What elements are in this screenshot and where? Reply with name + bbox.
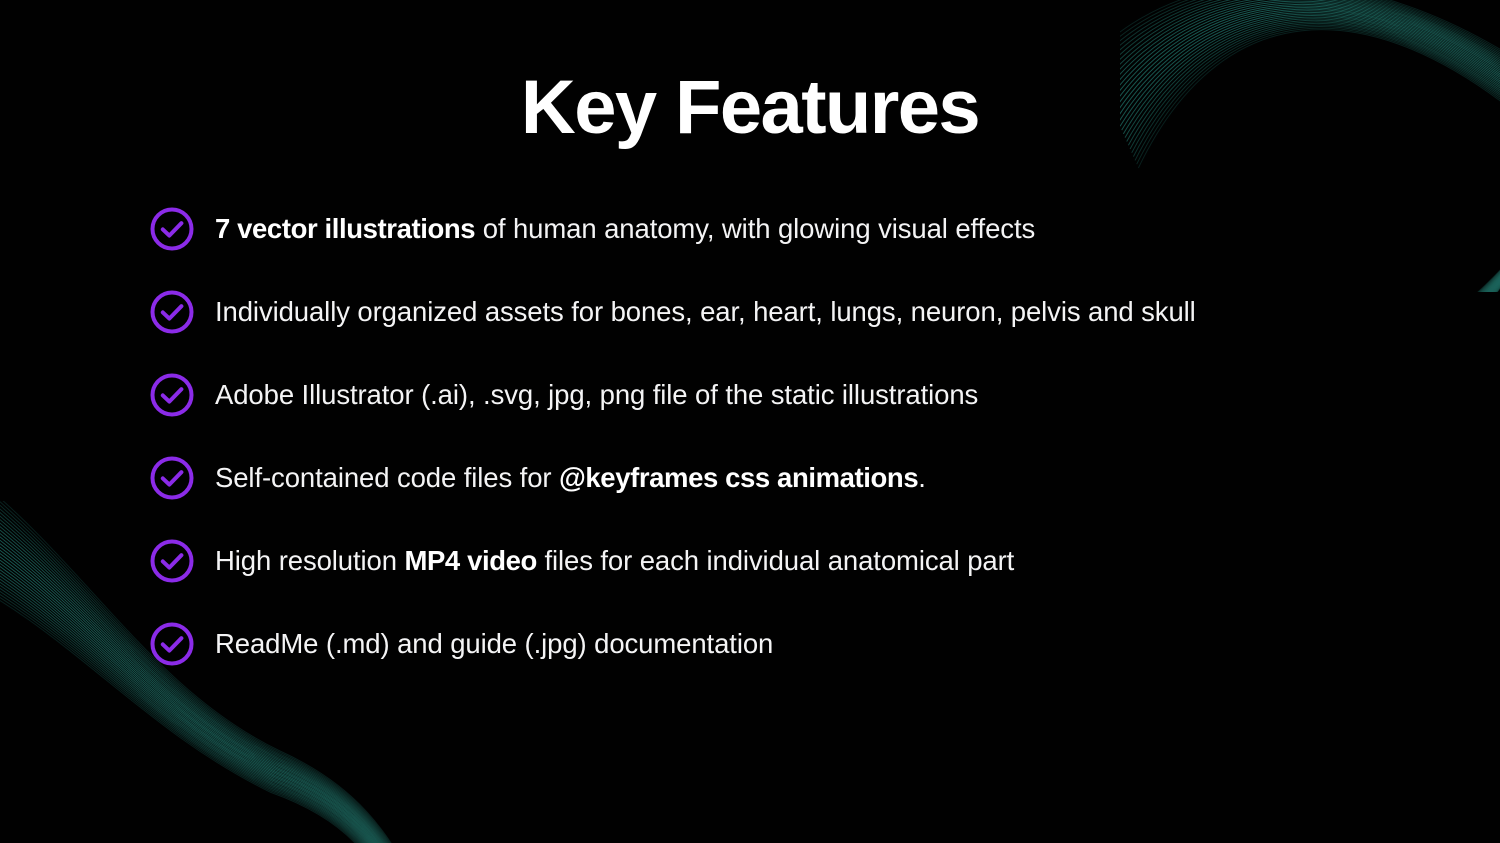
- list-item-text: Adobe Illustrator (.ai), .svg, jpg, png …: [215, 372, 978, 418]
- list-item: ReadMe (.md) and guide (.jpg) documentat…: [149, 621, 1440, 704]
- feature-list: 7 vector illustrations of human anatomy,…: [149, 206, 1440, 704]
- list-item-bold-lead: 7 vector illustrations: [215, 213, 475, 244]
- list-item-rest: of human anatomy, with glowing visual ef…: [475, 213, 1035, 244]
- list-item-rest: ReadMe (.md) and guide (.jpg) documentat…: [215, 628, 773, 659]
- list-item-rest: Adobe Illustrator (.ai), .svg, jpg, png …: [215, 379, 978, 410]
- list-item: Individually organized assets for bones,…: [149, 289, 1440, 372]
- list-item-rest: Individually organized assets for bones,…: [215, 296, 1196, 327]
- list-item: High resolution MP4 video files for each…: [149, 538, 1440, 621]
- list-item-rest: High resolution: [215, 545, 404, 576]
- check-circle-icon: [149, 206, 195, 252]
- list-item-tail: .: [918, 462, 926, 493]
- page-title: Key Features: [0, 70, 1500, 146]
- list-item-bold-mid: @keyframes css animations: [559, 462, 918, 493]
- check-circle-icon: [149, 372, 195, 418]
- list-item-text: High resolution MP4 video files for each…: [215, 538, 1014, 584]
- check-circle-icon: [149, 538, 195, 584]
- slide-key-features: Key Features 7 vector illustrations of h…: [0, 0, 1500, 843]
- list-item-text: Self-contained code files for @keyframes…: [215, 455, 926, 501]
- check-circle-icon: [149, 289, 195, 335]
- list-item: 7 vector illustrations of human anatomy,…: [149, 206, 1440, 289]
- list-item: Adobe Illustrator (.ai), .svg, jpg, png …: [149, 372, 1440, 455]
- list-item-text: 7 vector illustrations of human anatomy,…: [215, 206, 1035, 252]
- list-item-text: Individually organized assets for bones,…: [215, 289, 1196, 335]
- list-item-tail: files for each individual anatomical par…: [537, 545, 1014, 576]
- list-item-rest: Self-contained code files for: [215, 462, 559, 493]
- list-item-text: ReadMe (.md) and guide (.jpg) documentat…: [215, 621, 773, 667]
- check-circle-icon: [149, 621, 195, 667]
- list-item: Self-contained code files for @keyframes…: [149, 455, 1440, 538]
- check-circle-icon: [149, 455, 195, 501]
- list-item-bold-mid: MP4 video: [404, 545, 536, 576]
